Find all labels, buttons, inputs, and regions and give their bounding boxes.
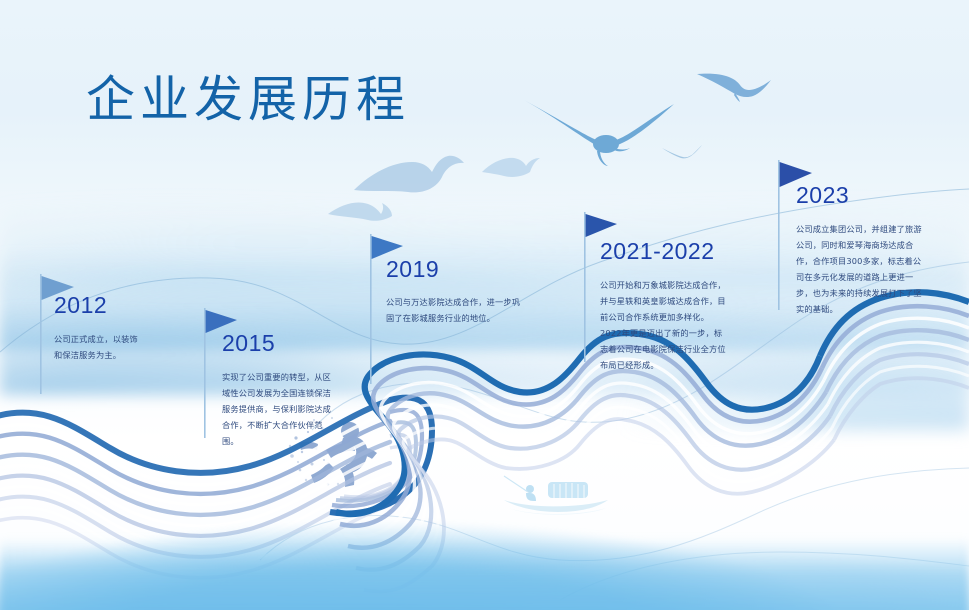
timeline-node-2019[interactable]: 2019 公司与万达影院达成合作，进一步巩 固了在影城服务行业的地位。 xyxy=(386,256,562,326)
page-title: 企业发展历程 xyxy=(86,60,410,131)
seagull-pale-right-icon xyxy=(480,152,544,182)
flag-icon-2015 xyxy=(204,308,248,438)
poster-canvas: 企业发展历程 2012 公司正式成立，以装饰 和保洁服务为主。 2015 实现了… xyxy=(0,0,969,610)
flag-icon-2012 xyxy=(40,274,84,394)
flag-icon-2023 xyxy=(778,160,822,310)
timeline-node-2023[interactable]: 2023 公司成立集团公司，并组建了旅游 公司，同时和爱琴海商场达成合 作，合作… xyxy=(796,182,960,317)
timeline-node-2015[interactable]: 2015 实现了公司重要的转型，从区 域性公司发展为全国连锁保洁 服务提供商，与… xyxy=(222,330,382,449)
seagull-pale-mid-icon xyxy=(350,150,470,202)
seagull-small-icon xyxy=(660,140,704,162)
flag-icon-2019 xyxy=(370,234,414,384)
seagull-mid-icon xyxy=(695,62,773,106)
timeline-node-2021-2022[interactable]: 2021-2022 公司开始和万象城影院达成合作， 并与星轶和英皇影城达成合作，… xyxy=(600,238,770,373)
watercolor-mountain-haze xyxy=(0,538,969,610)
timeline-node-2012[interactable]: 2012 公司正式成立，以装饰 和保洁服务为主。 xyxy=(54,292,204,363)
flag-icon-2021-2022 xyxy=(584,212,628,362)
seagull-large-icon xyxy=(520,90,680,170)
seagull-pale-left-icon xyxy=(326,184,422,228)
